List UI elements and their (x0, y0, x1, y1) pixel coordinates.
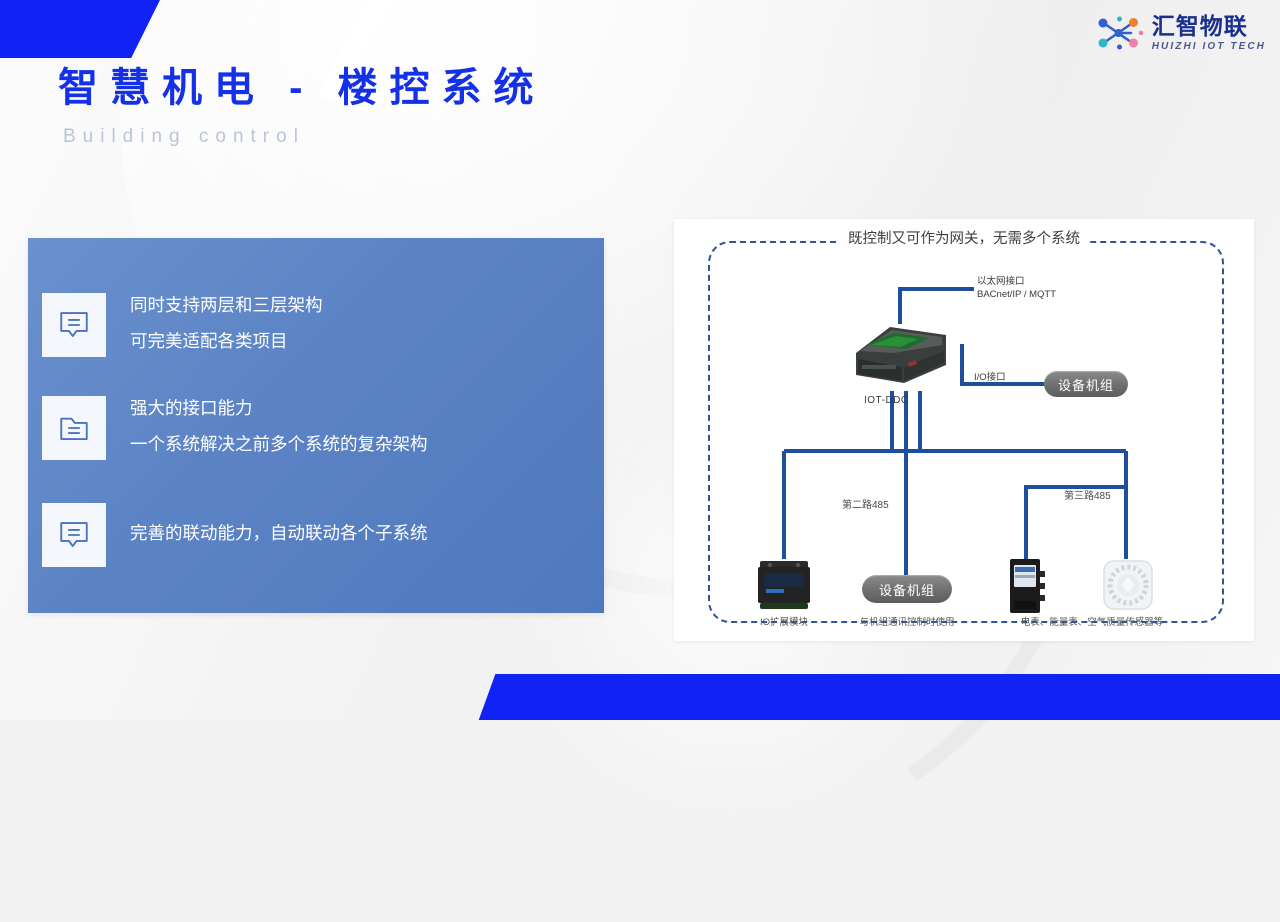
bus2-label: 第二路485 (842, 496, 889, 511)
bus3-label: 第三路485 (1064, 487, 1111, 502)
features-panel: 同时支持两层和三层架构 可完美适配各类项目 强大的接口能力 一个系统解决之前多个… (28, 238, 604, 613)
feature-line: 同时支持两层和三层架构 (130, 297, 323, 315)
io-expansion-module-image (754, 557, 814, 613)
page-subtitle: Building control (63, 127, 305, 146)
feature-item: 同时支持两层和三层架构 可完美适配各类项目 (42, 293, 323, 357)
air-quality-sensor-image (1102, 559, 1154, 611)
feature-item: 强大的接口能力 一个系统解决之前多个系统的复杂架构 (42, 396, 428, 460)
controller-label: IOT-DDC (864, 395, 909, 406)
speech-bubble-lines-icon (42, 503, 106, 567)
folder-document-icon (42, 396, 106, 460)
ethernet-interface-label: 以太网接口 BACnet/IP / MQTT (977, 275, 1056, 302)
device-unit-pill-center: 设备机组 (862, 575, 952, 603)
brand-logo: 汇智物联 HUIZHI IOT TECH (1096, 14, 1266, 52)
feature-line: 完善的联动能力，自动联动各个子系统 (130, 525, 428, 543)
iot-ddc-controller-image (846, 319, 954, 391)
speech-bubble-lines-icon (42, 293, 106, 357)
feature-line: 可完美适配各类项目 (130, 333, 323, 351)
feature-line: 一个系统解决之前多个系统的复杂架构 (130, 436, 428, 454)
logo-name-en: HUIZHI IOT TECH (1152, 42, 1266, 52)
meters-sensors-label: 电表、能量表、空气质量传感器等 (1004, 617, 1180, 630)
feature-item: 完善的联动能力，自动联动各个子系统 (42, 503, 428, 567)
device-unit-pill-right: 设备机组 (1044, 371, 1128, 397)
page-title: 智慧机电 - 楼控系统 (58, 68, 546, 108)
energy-meter-image (1004, 557, 1050, 615)
logo-name-cn: 汇智物联 (1152, 15, 1266, 38)
molecule-network-icon (1096, 14, 1144, 52)
io-interface-label: I/O接口 (974, 369, 1006, 383)
io-expansion-module-label: IO扩展模块 (736, 617, 832, 630)
feature-line: 强大的接口能力 (130, 400, 428, 418)
architecture-diagram-card: 既控制又可作为网关，无需多个系统 以太网接口 BACnet/IP / MQTT … (674, 219, 1254, 641)
device-unit-usage-label: 与机组通讯控制时使用 (844, 617, 970, 630)
